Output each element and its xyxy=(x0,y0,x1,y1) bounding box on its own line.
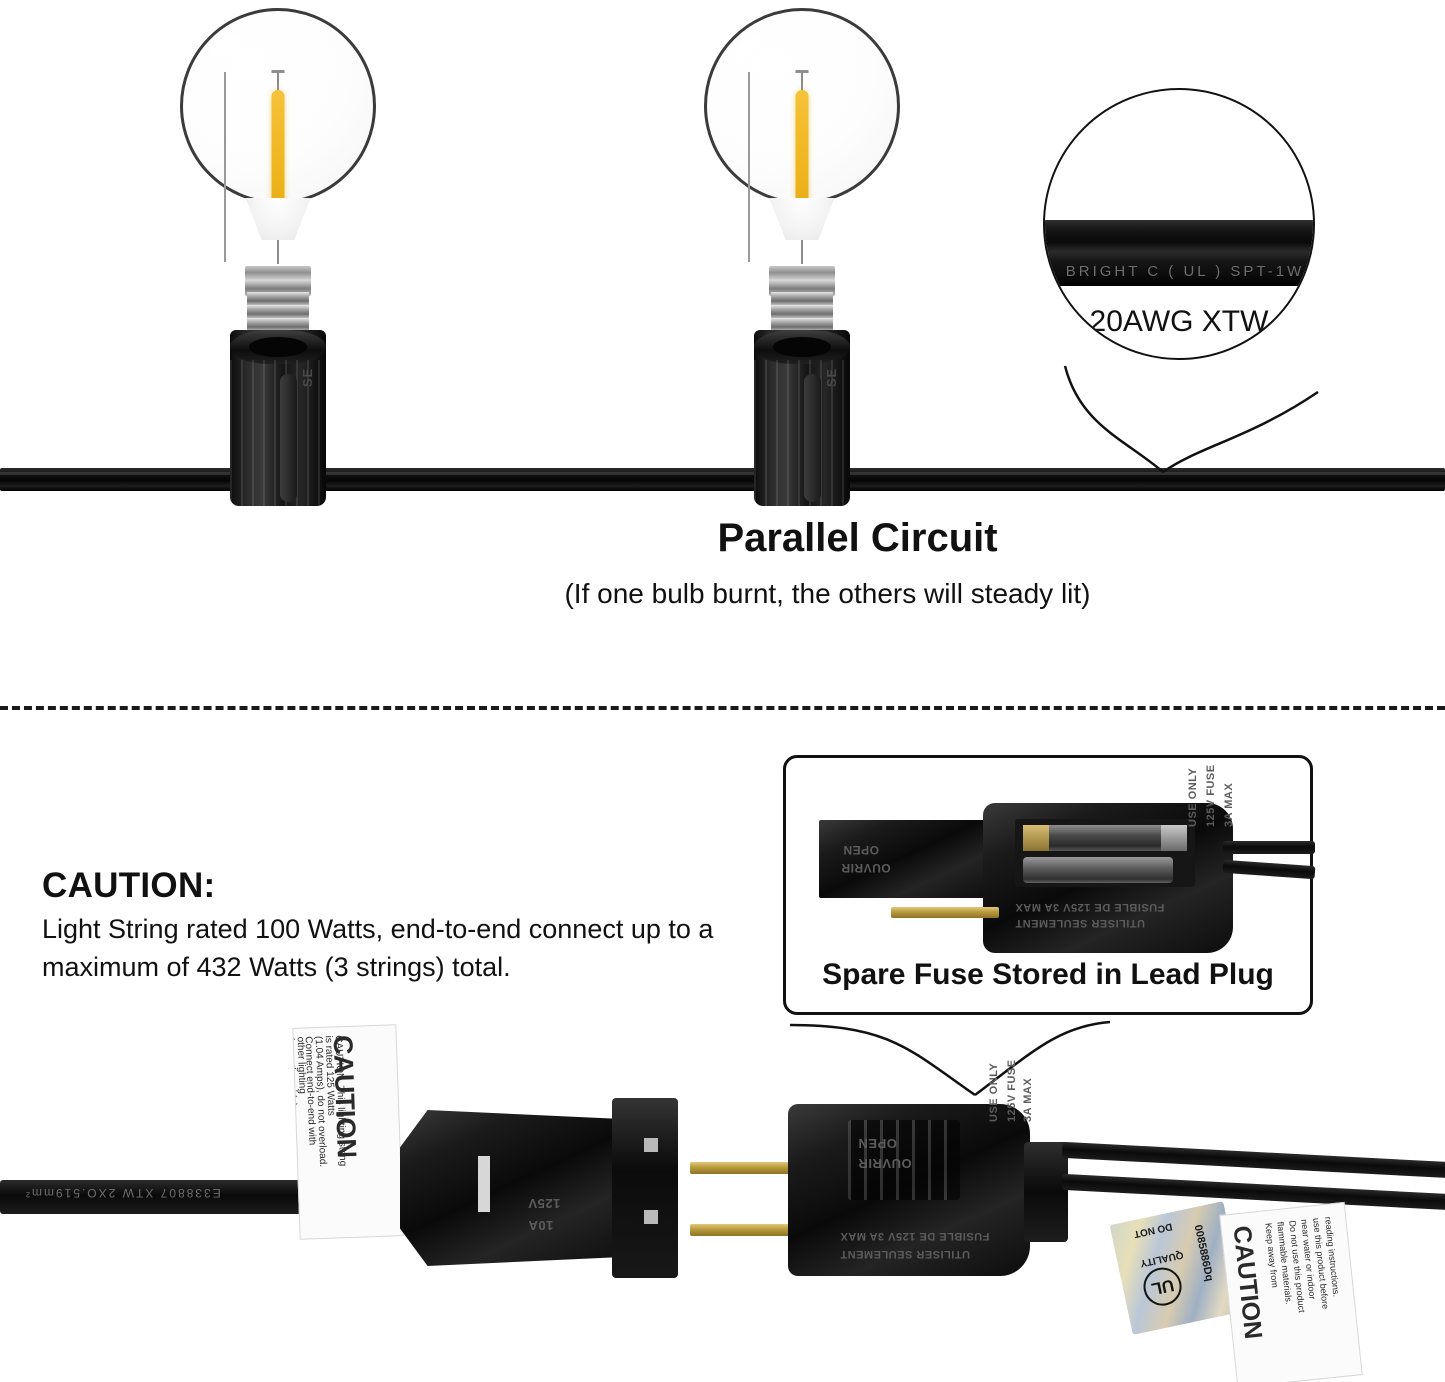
left-hang-tag: CAUTION CAUTION. This lighting string is… xyxy=(292,1024,403,1240)
female-connector-rating-1: 125V xyxy=(528,1196,560,1211)
bulb-neck xyxy=(241,198,315,240)
led-filament xyxy=(272,90,285,208)
filament-support-wire xyxy=(224,72,226,262)
right-tag-title: CAUTION xyxy=(1227,1224,1268,1340)
fuse-box-leader-lines xyxy=(790,1010,1120,1110)
male-plug-prong-top xyxy=(690,1162,802,1174)
right-cord-top xyxy=(1062,1142,1445,1178)
filament-top-bar xyxy=(272,70,285,73)
male-plug-fuse-rating-text: 125V FUSE xyxy=(1006,1059,1018,1122)
filament-support-wire xyxy=(748,72,750,262)
callout-wire-graphic: BRIGHT C ( UL ) SPT-1W xyxy=(1043,220,1315,286)
ul-mark-icon: UL xyxy=(1140,1264,1185,1309)
spare-fuse-cartridge-2 xyxy=(1023,857,1173,883)
socket-tab xyxy=(280,374,297,502)
male-plug-strain-relief xyxy=(1024,1142,1068,1242)
plug-use-only-text: USE ONLY xyxy=(1187,768,1199,827)
wire-gauge-label: 20AWG XTW xyxy=(1045,305,1313,339)
socket-marking-label: SE xyxy=(300,368,315,387)
male-plug-use-only-text: USE ONLY xyxy=(988,1063,1000,1122)
product-infographic: { "sections": { "top": { "callout": { "w… xyxy=(0,0,1445,1382)
plug-open-text: OPEN xyxy=(843,843,879,857)
male-plug-ouvrir-text: OUVRIR xyxy=(858,1156,912,1171)
led-filament xyxy=(796,90,809,208)
male-plug-amp-max-text: 3A MAX xyxy=(1022,1078,1034,1122)
female-connector-rating-2: 10A xyxy=(528,1218,553,1233)
male-plug-french-2: FUSIBLE DE 125V 3A MAX xyxy=(840,1230,989,1242)
fuse-plug-prong xyxy=(891,907,999,918)
fuse-plug-illustration: OPEN OUVRIR USE ONLY 125V FUSE 3A MAX UT… xyxy=(783,755,1313,955)
bulb-neck xyxy=(765,198,839,240)
socket-opening xyxy=(249,337,307,357)
female-connector: 125V 10A xyxy=(400,1092,690,1282)
callout-wire-print: BRIGHT C ( UL ) SPT-1W xyxy=(1043,263,1315,280)
socket-opening xyxy=(773,337,831,357)
fuse-contact-left xyxy=(1023,825,1049,851)
ul-word-quality: QUALITY xyxy=(1139,1249,1184,1269)
right-hang-tag: CAUTION Keep away from flammable materia… xyxy=(1219,1202,1362,1382)
female-slot-top xyxy=(644,1138,658,1152)
fuse-plug-cord-top xyxy=(1223,841,1315,854)
filament-top-bar xyxy=(796,70,809,73)
bulb-assembly-2: SE xyxy=(702,8,902,508)
socket-marking-label: SE xyxy=(824,368,839,387)
ul-certification-number: 0085886Dq xyxy=(1192,1224,1216,1283)
parallel-circuit-subheading: (If one bulb burnt, the others will stea… xyxy=(0,578,1445,610)
caution-text: Light String rated 100 Watts, end-to-end… xyxy=(42,910,732,987)
female-connector-body xyxy=(400,1110,630,1266)
female-slot-bottom xyxy=(644,1210,658,1224)
plug-amp-max-text: 3A MAX xyxy=(1223,783,1235,827)
plug-fuse-rating-text: 125V FUSE xyxy=(1205,764,1217,827)
wire-zoom-callout: BRIGHT C ( UL ) SPT-1W 20AWG XTW xyxy=(1043,88,1315,360)
bulb-socket-1: SE xyxy=(230,330,326,506)
socket-tab xyxy=(804,374,821,502)
bulb-assembly-1: SE xyxy=(178,8,378,508)
male-plug-open-text: OPEN xyxy=(858,1136,897,1151)
right-cord-bottom xyxy=(1062,1174,1445,1210)
caution-heading: CAUTION: xyxy=(42,866,216,906)
left-cord-print: E338807 XTW 2XO.519mm² xyxy=(24,1186,221,1200)
female-connector-face xyxy=(612,1098,678,1278)
plug-ouvrir-text: OUVRIR xyxy=(841,861,891,875)
section-divider xyxy=(0,706,1445,710)
fuse-cover-slide xyxy=(819,820,994,898)
spare-fuse-title: Spare Fuse Stored in Lead Plug xyxy=(783,958,1313,992)
plug-french-line-1: UTILISER SEULEMENT xyxy=(1015,917,1145,929)
male-plug: OPEN OUVRIR USE ONLY 125V FUSE 3A MAX UT… xyxy=(788,1098,1088,1288)
parallel-circuit-heading: Parallel Circuit xyxy=(0,516,1445,561)
fuse-plug-cord-bottom xyxy=(1223,860,1316,879)
female-connector-highlight xyxy=(478,1156,490,1212)
male-plug-french-1: UTILISER SEULEMENT xyxy=(840,1248,970,1260)
bulb-socket-2: SE xyxy=(754,330,850,506)
ul-word-do-not: DO NOT xyxy=(1133,1220,1173,1239)
male-plug-prong-bottom xyxy=(690,1224,802,1236)
fuse-contact-right xyxy=(1161,825,1187,851)
plug-french-line-2: FUSIBLE DE 125V 3A MAX xyxy=(1015,901,1164,913)
